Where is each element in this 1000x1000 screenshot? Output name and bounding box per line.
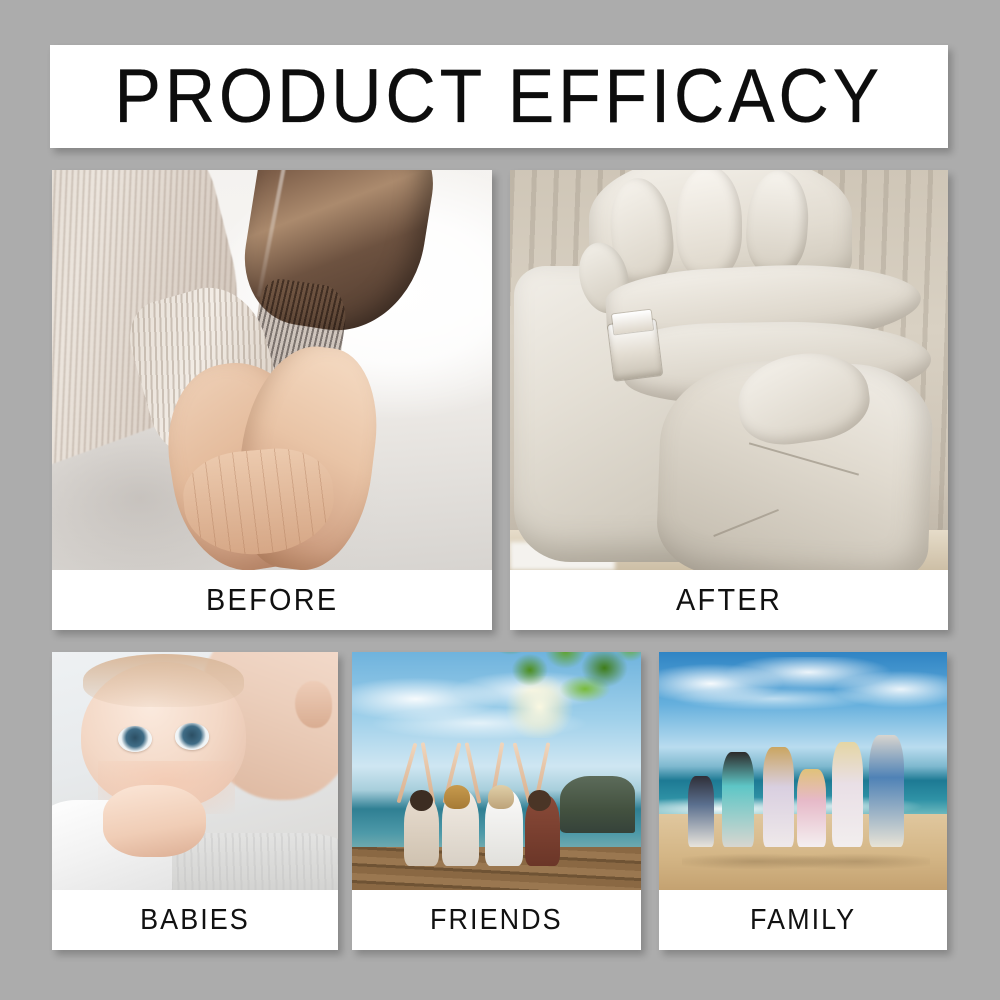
caption-bar-family: FAMILY xyxy=(659,890,947,950)
family-member-2-shape xyxy=(722,752,754,847)
baby-hands-shape xyxy=(103,785,206,856)
baby-photo-art xyxy=(52,652,338,890)
holding-hands-photo xyxy=(52,170,492,570)
tile-friends[interactable]: FRIENDS xyxy=(352,652,641,950)
holding-hands-photo-art xyxy=(52,170,492,570)
caption-bar-friends: FRIENDS xyxy=(352,890,641,950)
plaster-hand-cast-photo-art xyxy=(510,170,948,570)
caption-label-before: BEFORE xyxy=(206,582,338,618)
family-member-3-shape xyxy=(763,747,795,847)
cloud-layer-shape xyxy=(659,657,947,752)
friends-beach-photo-art xyxy=(352,652,641,890)
family-member-6-shape xyxy=(869,735,904,847)
friend-2-head-shape xyxy=(444,785,470,809)
caption-bar-before: BEFORE xyxy=(52,570,492,630)
caption-label-babies: BABIES xyxy=(140,904,250,937)
tile-before[interactable]: BEFORE xyxy=(52,170,492,630)
title-card: PRODUCT EFFICACY xyxy=(50,45,948,148)
caption-bar-after: AFTER xyxy=(510,570,948,630)
family-member-4-shape xyxy=(797,769,826,848)
tile-after[interactable]: AFTER xyxy=(510,170,948,630)
page-title: PRODUCT EFFICACY xyxy=(115,59,884,135)
tree-leaves-shape xyxy=(491,652,641,733)
baby-right-eye-shape xyxy=(175,723,209,749)
tile-babies[interactable]: BABIES xyxy=(52,652,338,950)
family-beach-photo-art xyxy=(659,652,947,890)
family-member-5-shape xyxy=(832,742,864,847)
baby-photo xyxy=(52,652,338,890)
friend-3-head-shape xyxy=(488,785,514,809)
plaster-hand-cast-photo xyxy=(510,170,948,570)
caption-label-family: FAMILY xyxy=(750,904,856,937)
caption-label-after: AFTER xyxy=(676,582,782,618)
caption-bar-babies: BABIES xyxy=(52,890,338,950)
tile-family[interactable]: FAMILY xyxy=(659,652,947,950)
family-beach-photo xyxy=(659,652,947,890)
baby-left-eye-shape xyxy=(118,726,152,752)
adult-ear-shape xyxy=(295,681,332,729)
friends-beach-photo xyxy=(352,652,641,890)
caption-label-friends: FRIENDS xyxy=(430,904,563,937)
poster-canvas: PRODUCT EFFICACY BEFORE xyxy=(0,0,1000,1000)
baby-hair-shape xyxy=(83,654,243,706)
ground-shadow-shape xyxy=(682,852,930,871)
family-member-1-shape xyxy=(688,776,714,847)
fingertip-2-shape xyxy=(676,170,742,278)
